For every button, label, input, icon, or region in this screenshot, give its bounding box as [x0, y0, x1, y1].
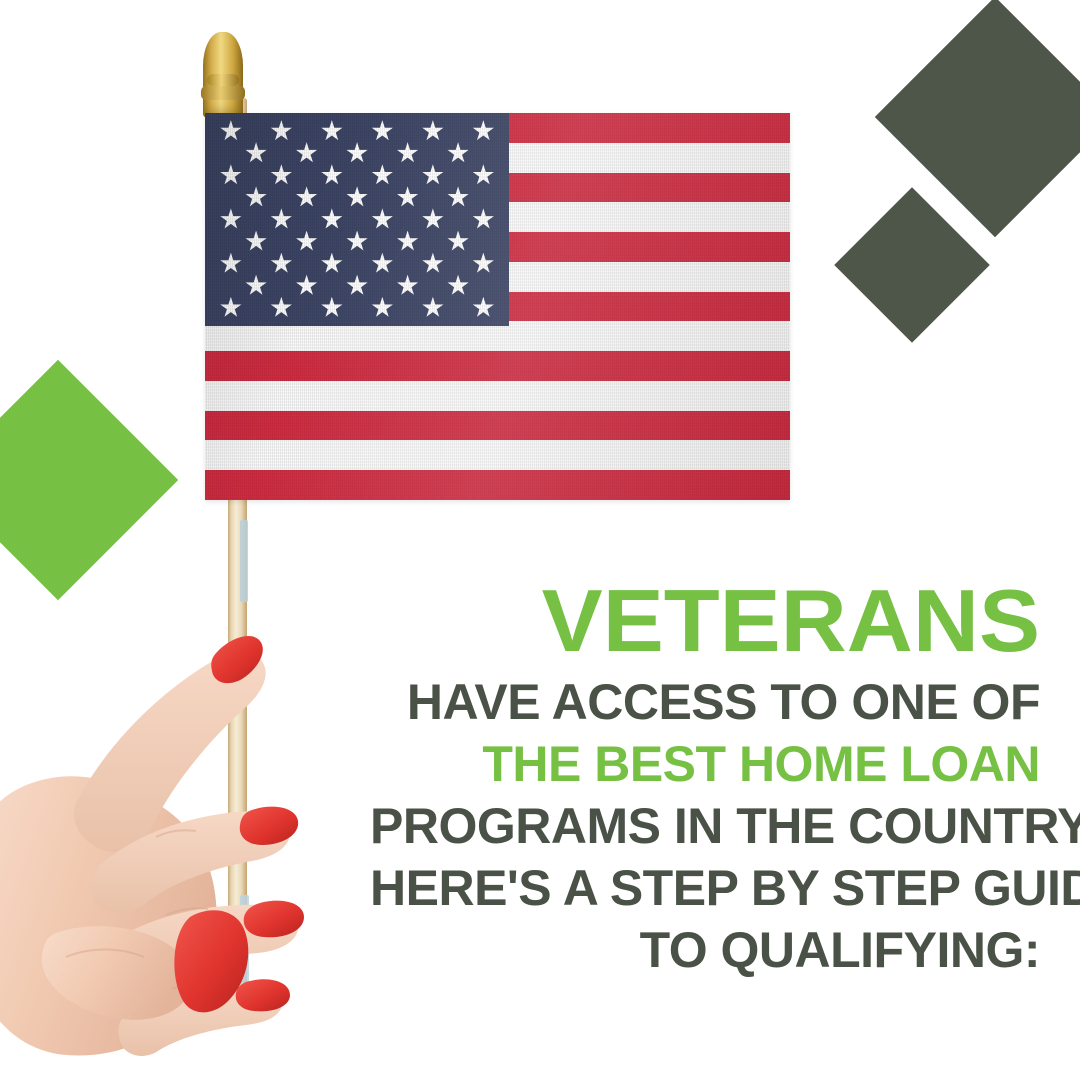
flag-stripe [205, 381, 790, 411]
flag-star-icon [270, 120, 292, 142]
flag-star-icon [422, 208, 444, 230]
flag-canton [205, 113, 509, 326]
flag-star-icon [270, 297, 292, 319]
flag-star-icon [397, 231, 419, 253]
flag-star-icon [397, 275, 419, 297]
headline-line-4: PROGRAMS IN THE COUNTRY, [370, 795, 1040, 857]
flag-star-icon [447, 275, 469, 297]
headline-block: VETERANS HAVE ACCESS TO ONE OF THE BEST … [370, 575, 1040, 981]
finial-collar [201, 86, 245, 100]
flag-star-icon [472, 164, 494, 186]
flag-star-icon [422, 164, 444, 186]
dark-diamond-small-icon [834, 187, 990, 343]
flag-star-icon [472, 208, 494, 230]
flag-stripe [205, 411, 790, 441]
flag-star-icon [296, 186, 318, 208]
flag-star-icon [321, 164, 343, 186]
flag-star-icon [321, 208, 343, 230]
flag-star-icon [270, 208, 292, 230]
flag-star-icon [447, 142, 469, 164]
flag-star-icon [472, 253, 494, 275]
flag-star-icon [371, 120, 393, 142]
flag-star-icon [346, 142, 368, 164]
flag-star-icon [296, 231, 318, 253]
flag-star-icon [321, 297, 343, 319]
headline-line-veterans: VETERANS [343, 575, 1040, 667]
flag-stripe [205, 440, 790, 470]
flag-stripe [205, 470, 790, 500]
flag-star-icon [220, 120, 242, 142]
flag-star-icon [472, 120, 494, 142]
flag-star-icon [346, 186, 368, 208]
flag-star-icon [220, 297, 242, 319]
flag-star-icon [346, 275, 368, 297]
headline-line-3-accent: THE BEST HOME LOAN [370, 733, 1040, 795]
flag-star-icon [220, 208, 242, 230]
headline-line-5: HERE'S A STEP BY STEP GUIDE [370, 857, 1040, 919]
flag-star-icon [397, 142, 419, 164]
finial-neck [207, 74, 239, 86]
flag-star-icon [422, 253, 444, 275]
flag-star-icon [220, 164, 242, 186]
american-flag-cloth [205, 113, 790, 500]
flag-star-icon [220, 253, 242, 275]
flag-star-icon [346, 231, 368, 253]
flag-star-icon [371, 208, 393, 230]
nail-middle [240, 807, 298, 845]
hand-holding-flag [0, 585, 380, 1080]
flag-star-icon [422, 297, 444, 319]
flag-star-icon [447, 231, 469, 253]
flag-star-icon [321, 253, 343, 275]
flag-stripe [205, 351, 790, 381]
headline-line-2: HAVE ACCESS TO ONE OF [370, 671, 1040, 733]
flag-star-icon [397, 186, 419, 208]
flag-star-icon [321, 120, 343, 142]
flag-star-icon [270, 253, 292, 275]
flag-star-icon [245, 142, 267, 164]
flag-star-icon [245, 231, 267, 253]
poster-canvas: VETERANS HAVE ACCESS TO ONE OF THE BEST … [0, 0, 1080, 1080]
headline-line-6: TO QUALIFYING: [370, 919, 1040, 981]
flag-star-icon [270, 164, 292, 186]
flag-star-icon [447, 186, 469, 208]
nail-pinky [236, 979, 290, 1011]
flag-star-icon [371, 164, 393, 186]
flag-star-icon [296, 275, 318, 297]
flag-star-icon [245, 186, 267, 208]
flag-star-icon [245, 275, 267, 297]
flag-star-icon [472, 297, 494, 319]
flag-star-icon [296, 142, 318, 164]
flag-star-icon [371, 297, 393, 319]
flag-star-icon [422, 120, 444, 142]
flag-star-icon [371, 253, 393, 275]
